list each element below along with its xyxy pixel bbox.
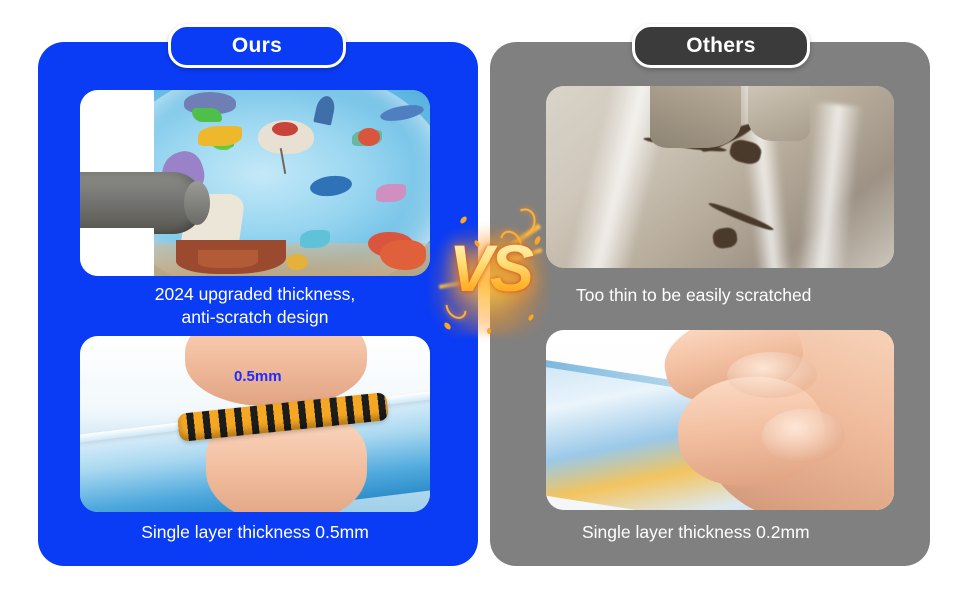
versus-badge: VS: [425, 196, 555, 356]
others-top-caption: Too thin to be easily scratched: [576, 284, 906, 307]
ours-badge: Ours: [168, 24, 346, 68]
thickness-label: 0.5mm: [234, 368, 282, 385]
others-bottom-photo: [546, 330, 894, 510]
ours-panel: 2024 upgraded thickness, anti-scratch de…: [38, 42, 478, 566]
others-top-photo: [546, 86, 894, 268]
ours-bottom-photo: 0.5mm: [80, 336, 430, 512]
ours-top-caption: 2024 upgraded thickness, anti-scratch de…: [80, 283, 430, 329]
ours-top-photo: [80, 90, 430, 276]
others-badge: Others: [632, 24, 810, 68]
cat-paw: [80, 172, 204, 234]
versus-label: VS: [425, 230, 555, 306]
others-panel: Too thin to be easily scratched Single l…: [490, 42, 930, 566]
others-badge-label: Others: [686, 34, 756, 58]
others-bottom-caption: Single layer thickness 0.2mm: [582, 521, 912, 544]
ours-badge-label: Ours: [232, 34, 282, 58]
ours-bottom-caption: Single layer thickness 0.5mm: [80, 521, 430, 544]
comparison-infographic: 2024 upgraded thickness, anti-scratch de…: [0, 0, 970, 600]
